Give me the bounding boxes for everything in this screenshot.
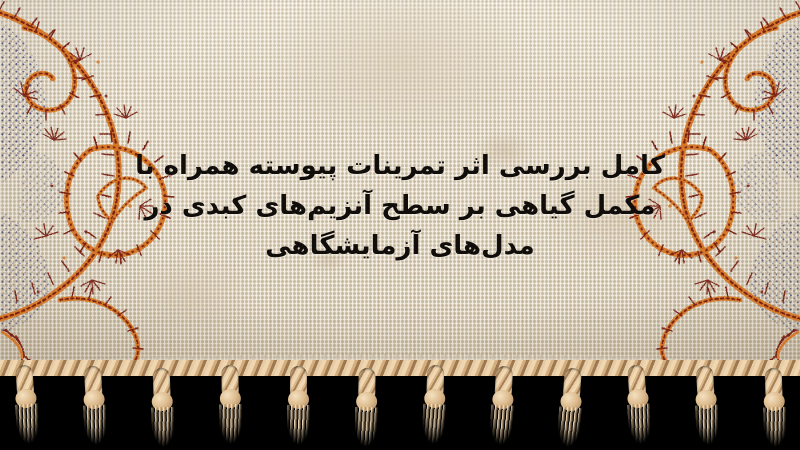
fringe-tassel bbox=[6, 361, 46, 449]
tassel-skirt bbox=[556, 406, 582, 450]
fringe-cord bbox=[0, 360, 800, 376]
tassel-skirt bbox=[763, 406, 787, 449]
fringe-tassel bbox=[416, 362, 453, 449]
tassel-skirt bbox=[489, 404, 514, 447]
fringe-tassel bbox=[144, 365, 181, 450]
slide-title: کامل بررسی اثر تمرینات پیوسته همراه با م… bbox=[0, 146, 800, 266]
tassel-skirt bbox=[83, 404, 108, 447]
fringe-tassel bbox=[756, 365, 793, 450]
fringe-tassel bbox=[483, 363, 521, 450]
fringe-tassel bbox=[281, 364, 315, 450]
title-line-2: مکمل گیاهی بر سطح آنزیم‌های کبدی در bbox=[0, 186, 800, 226]
slide-canvas: کامل بررسی اثر تمرینات پیوسته همراه با م… bbox=[0, 0, 800, 450]
tassel-skirt bbox=[354, 406, 378, 448]
fringe-tassel bbox=[212, 362, 247, 449]
title-line-3: مدل‌های آزمایشگاهی bbox=[0, 226, 800, 266]
tassel-skirt bbox=[287, 405, 310, 447]
title-line-1: کامل بررسی اثر تمرینات پیوسته همراه با bbox=[0, 146, 800, 186]
fringe-tassel bbox=[348, 365, 383, 450]
fringe-tassel bbox=[618, 361, 658, 449]
tassel-skirt bbox=[627, 403, 653, 447]
tassel-skirt bbox=[219, 403, 243, 445]
fringe-tassel bbox=[75, 363, 113, 450]
tassel-skirt bbox=[695, 404, 720, 447]
tassel-skirt bbox=[15, 403, 41, 447]
fringe-tassel bbox=[550, 364, 590, 450]
tassel-skirt bbox=[151, 406, 175, 449]
tassel-skirt bbox=[422, 403, 446, 446]
knotted-tassel-fringe bbox=[0, 360, 800, 450]
fringe-tassel bbox=[687, 363, 725, 450]
